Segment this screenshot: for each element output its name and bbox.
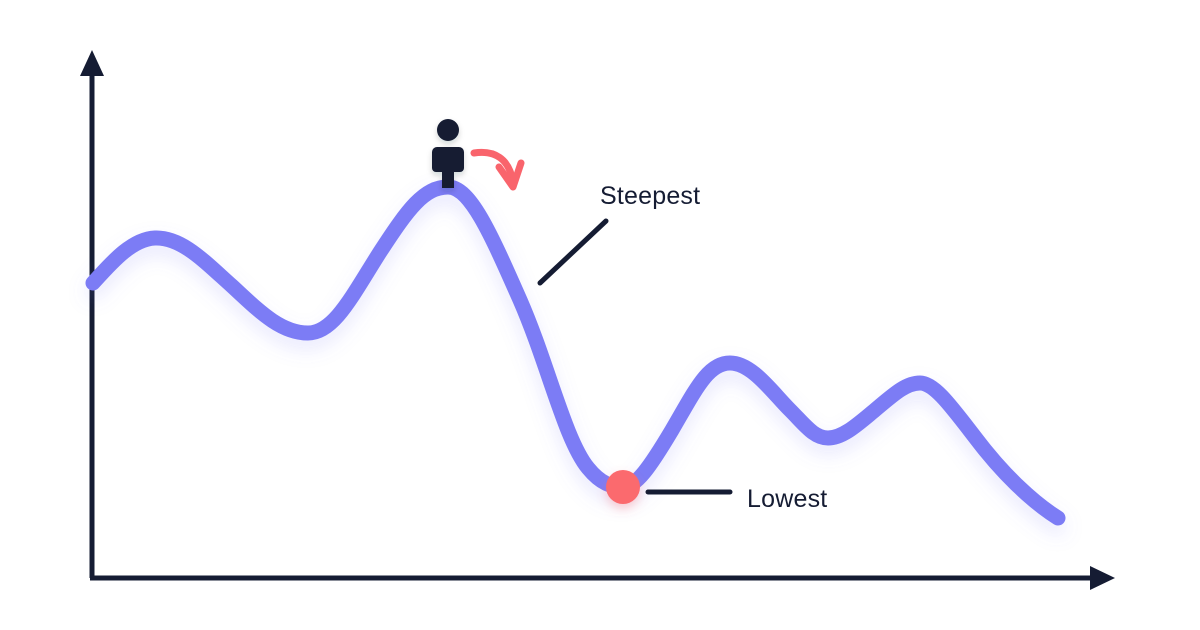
person-head-icon — [437, 119, 459, 141]
annotation-leaders — [540, 221, 730, 492]
curve-chart — [0, 0, 1200, 630]
axes-group — [80, 50, 1115, 590]
data-curve — [93, 187, 1058, 518]
steepest-label: Steepest — [600, 184, 700, 209]
diagram-canvas: Steepest Lowest — [0, 0, 1200, 630]
steepest-leader-line — [540, 221, 606, 283]
person-figure — [432, 119, 464, 188]
x-axis-arrowhead — [1090, 566, 1115, 590]
curved-down-arrow-icon — [474, 152, 521, 187]
y-axis-arrowhead — [80, 50, 104, 76]
lowest-label: Lowest — [747, 487, 827, 512]
lowest-point-dot[interactable] — [606, 470, 640, 504]
curve-group — [93, 187, 1058, 518]
